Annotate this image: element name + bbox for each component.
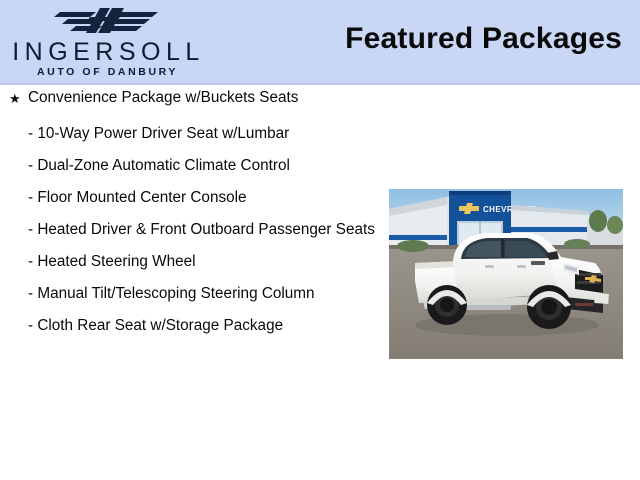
list-item-label: - Heated Driver & Front Outboard Passeng… (28, 220, 376, 240)
list-item-label: - Manual Tilt/Telescoping Steering Colum… (28, 284, 376, 304)
ingersoll-wing-emblem-icon (46, 2, 166, 38)
list-item-label: - Floor Mounted Center Console (28, 188, 376, 208)
list-item-label: Convenience Package w/Buckets Seats (28, 88, 376, 108)
list-item: - Floor Mounted Center Console (0, 188, 382, 208)
list-item: - 10-Way Power Driver Seat w/Lumbar (0, 124, 382, 144)
list-item: ★ Convenience Package w/Buckets Seats (0, 88, 382, 108)
list-item-label: - Dual-Zone Automatic Climate Control (28, 156, 376, 176)
list-item-label: - Heated Steering Wheel (28, 252, 376, 272)
star-bullet-icon: ★ (9, 89, 21, 109)
list-item: - Cloth Rear Seat w/Storage Package (0, 316, 382, 336)
list-item: - Heated Driver & Front Outboard Passeng… (0, 220, 382, 240)
dealer-logo-tagline: AUTO OF DANBURY (6, 66, 206, 79)
list-item: - Heated Steering Wheel (0, 252, 382, 272)
features-list: ★ Convenience Package w/Buckets Seats - … (0, 88, 382, 348)
page-title: Featured Packages (345, 22, 622, 56)
list-item-label: - 10-Way Power Driver Seat w/Lumbar (28, 124, 376, 144)
vehicle-photo: CHEVROLET (389, 189, 623, 359)
list-item: - Dual-Zone Automatic Climate Control (0, 156, 382, 176)
dealer-logo-name: INGERSOLL (6, 39, 206, 66)
header-band-edge (0, 83, 640, 85)
slide-canvas: INGERSOLL AUTO OF DANBURY Featured Packa… (0, 0, 640, 480)
dealer-logo: INGERSOLL AUTO OF DANBURY (6, 2, 206, 82)
list-item: - Manual Tilt/Telescoping Steering Colum… (0, 284, 382, 304)
list-item-label: - Cloth Rear Seat w/Storage Package (28, 316, 376, 336)
vehicle-photo-image: CHEVROLET (389, 189, 623, 359)
